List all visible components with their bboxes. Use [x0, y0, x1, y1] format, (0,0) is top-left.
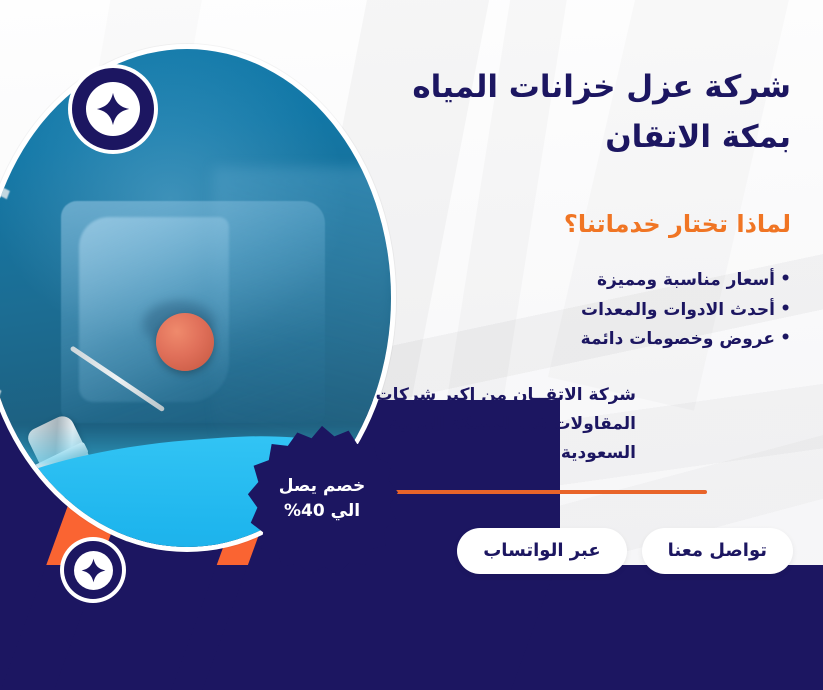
content-column: شركة عزل خزانات المياه بمكة الاتقان لماذ…: [371, 62, 791, 494]
headline-line-2: بمكة الاتقان: [605, 119, 791, 155]
discount-line-1: خصم يصل: [279, 474, 366, 500]
subheading: لماذا تختار خدماتنا؟: [371, 208, 791, 242]
list-item: أحدث الادوات والمعدات: [371, 296, 791, 326]
poster-canvas: شركة عزل خزانات المياه بمكة الاتقان لماذ…: [0, 0, 823, 690]
benefits-list: أسعار مناسبة ومميزة أحدث الادوات والمعدا…: [371, 266, 791, 355]
float-ball: [156, 313, 214, 371]
logo-top[interactable]: [72, 68, 154, 150]
list-item: عروض وخصومات دائمة: [371, 325, 791, 355]
sparkle-icon: [81, 558, 106, 583]
cta-row: تواصل معنا عبر الواتساب: [457, 528, 793, 574]
orange-divider: [371, 490, 707, 494]
page-title: شركة عزل خزانات المياه بمكة الاتقان: [371, 62, 791, 162]
logo-bottom-inner: [74, 551, 113, 590]
headline-line-1: شركة عزل خزانات المياه: [412, 69, 791, 105]
contact-us-button[interactable]: تواصل معنا: [642, 528, 793, 574]
discount-line-2: الي 40%: [284, 499, 360, 525]
discount-badge[interactable]: خصم يصل الي 40%: [246, 424, 398, 576]
company-blurb: شركة الاتقــان من اكبر شركات المقاولات ف…: [371, 381, 636, 469]
whatsapp-button[interactable]: عبر الواتساب: [457, 528, 626, 574]
list-item: أسعار مناسبة ومميزة: [371, 266, 791, 296]
logo-top-inner: [86, 82, 140, 136]
logo-bottom[interactable]: [64, 541, 122, 599]
discount-badge-text: خصم يصل الي 40%: [246, 424, 398, 576]
sparkle-icon: [96, 92, 130, 126]
